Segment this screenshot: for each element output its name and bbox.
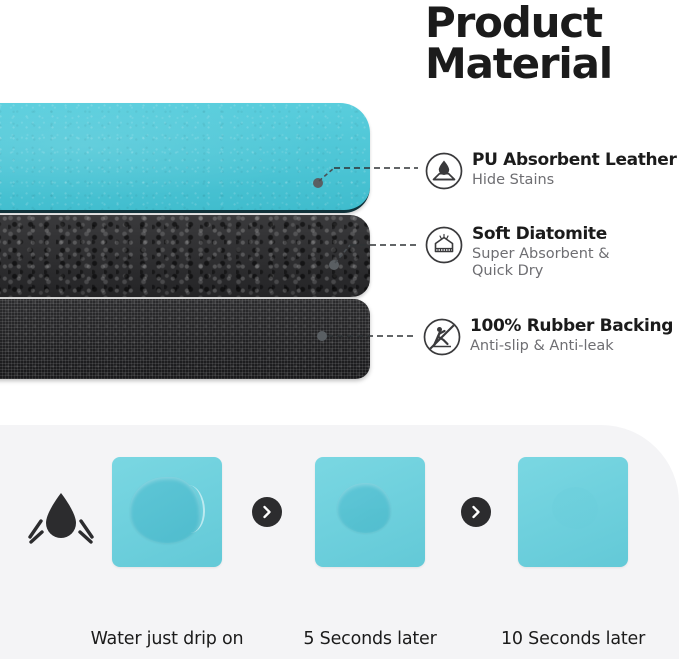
feature-title: PU Absorbent Leather	[472, 151, 677, 170]
feature-title: Soft Diatomite	[472, 225, 647, 244]
water-absorb-icon	[424, 151, 464, 191]
feature-title: 100% Rubber Backing	[470, 317, 673, 336]
feature-callout-rubber-backing: 100% Rubber Backing Anti-slip & Anti-lea…	[422, 316, 673, 357]
feature-subtitle: Hide Stains	[472, 172, 647, 189]
feature-text-diatomite: Soft Diatomite Super Absorbent & Quick D…	[472, 224, 647, 280]
pu-leather-layer	[0, 103, 370, 213]
water-drop-splash-icon	[25, 485, 97, 557]
demo-swatch-step-3	[518, 457, 628, 567]
page-title: Product Material	[425, 2, 677, 84]
feature-subtitle: Anti-slip & Anti-leak	[470, 338, 645, 355]
product-material-infographic: Product Material PU Absorbent Leather H	[0, 0, 679, 659]
chevron-right-icon	[468, 504, 484, 520]
feature-callout-pu-leather: PU Absorbent Leather Hide Stains	[424, 150, 677, 191]
water-puddle-small	[337, 483, 391, 533]
feature-callout-diatomite: Soft Diatomite Super Absorbent & Quick D…	[424, 224, 647, 280]
rubber-backing-layer	[0, 299, 370, 379]
demo-swatch-step-2	[315, 457, 425, 567]
step-arrow-2	[461, 497, 491, 527]
demo-swatch-step-1	[112, 457, 222, 567]
absorbency-demo-row: Water just drip on 5 Seconds later 10 Se…	[0, 457, 679, 587]
feature-text-pu-leather: PU Absorbent Leather Hide Stains	[472, 150, 677, 189]
anti-slip-icon	[422, 317, 462, 357]
chevron-right-icon	[259, 504, 275, 520]
step-arrow-1	[252, 497, 282, 527]
water-puddle-large	[130, 477, 200, 543]
water-puddle-dry	[552, 487, 598, 529]
absorbency-demo-panel: Water just drip on 5 Seconds later 10 Se…	[0, 425, 679, 659]
feature-subtitle: Super Absorbent & Quick Dry	[472, 246, 647, 280]
mat-layer-stack	[0, 103, 390, 378]
feature-text-rubber-backing: 100% Rubber Backing Anti-slip & Anti-lea…	[470, 316, 673, 355]
diatomite-layer	[0, 215, 370, 297]
demo-step-label-3: 10 Seconds later	[453, 629, 679, 649]
page-title-line-2: Material	[425, 43, 677, 84]
diatomite-block-icon	[424, 225, 464, 265]
